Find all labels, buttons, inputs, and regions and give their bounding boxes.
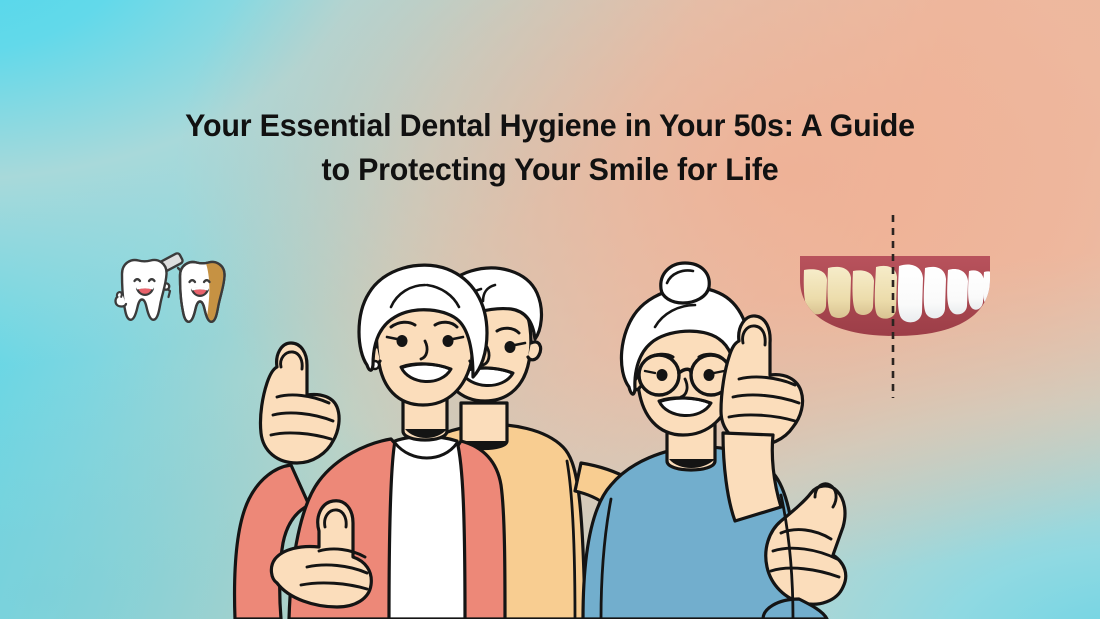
page-title-line-2: to Protecting Your Smile for Life xyxy=(106,147,994,191)
page-title: Your Essential Dental Hygiene in Your 50… xyxy=(0,103,1100,191)
tooth-mates-icon xyxy=(104,252,232,332)
person-right xyxy=(583,263,846,619)
banner-root: Your Essential Dental Hygiene in Your 50… xyxy=(0,0,1100,619)
three-seniors-thumbs-up xyxy=(215,255,875,619)
person-left xyxy=(235,265,505,619)
tooth-clean xyxy=(116,260,167,320)
right-person-raised-hand xyxy=(721,316,803,521)
page-title-line-1: Your Essential Dental Hygiene in Your 50… xyxy=(106,103,994,147)
